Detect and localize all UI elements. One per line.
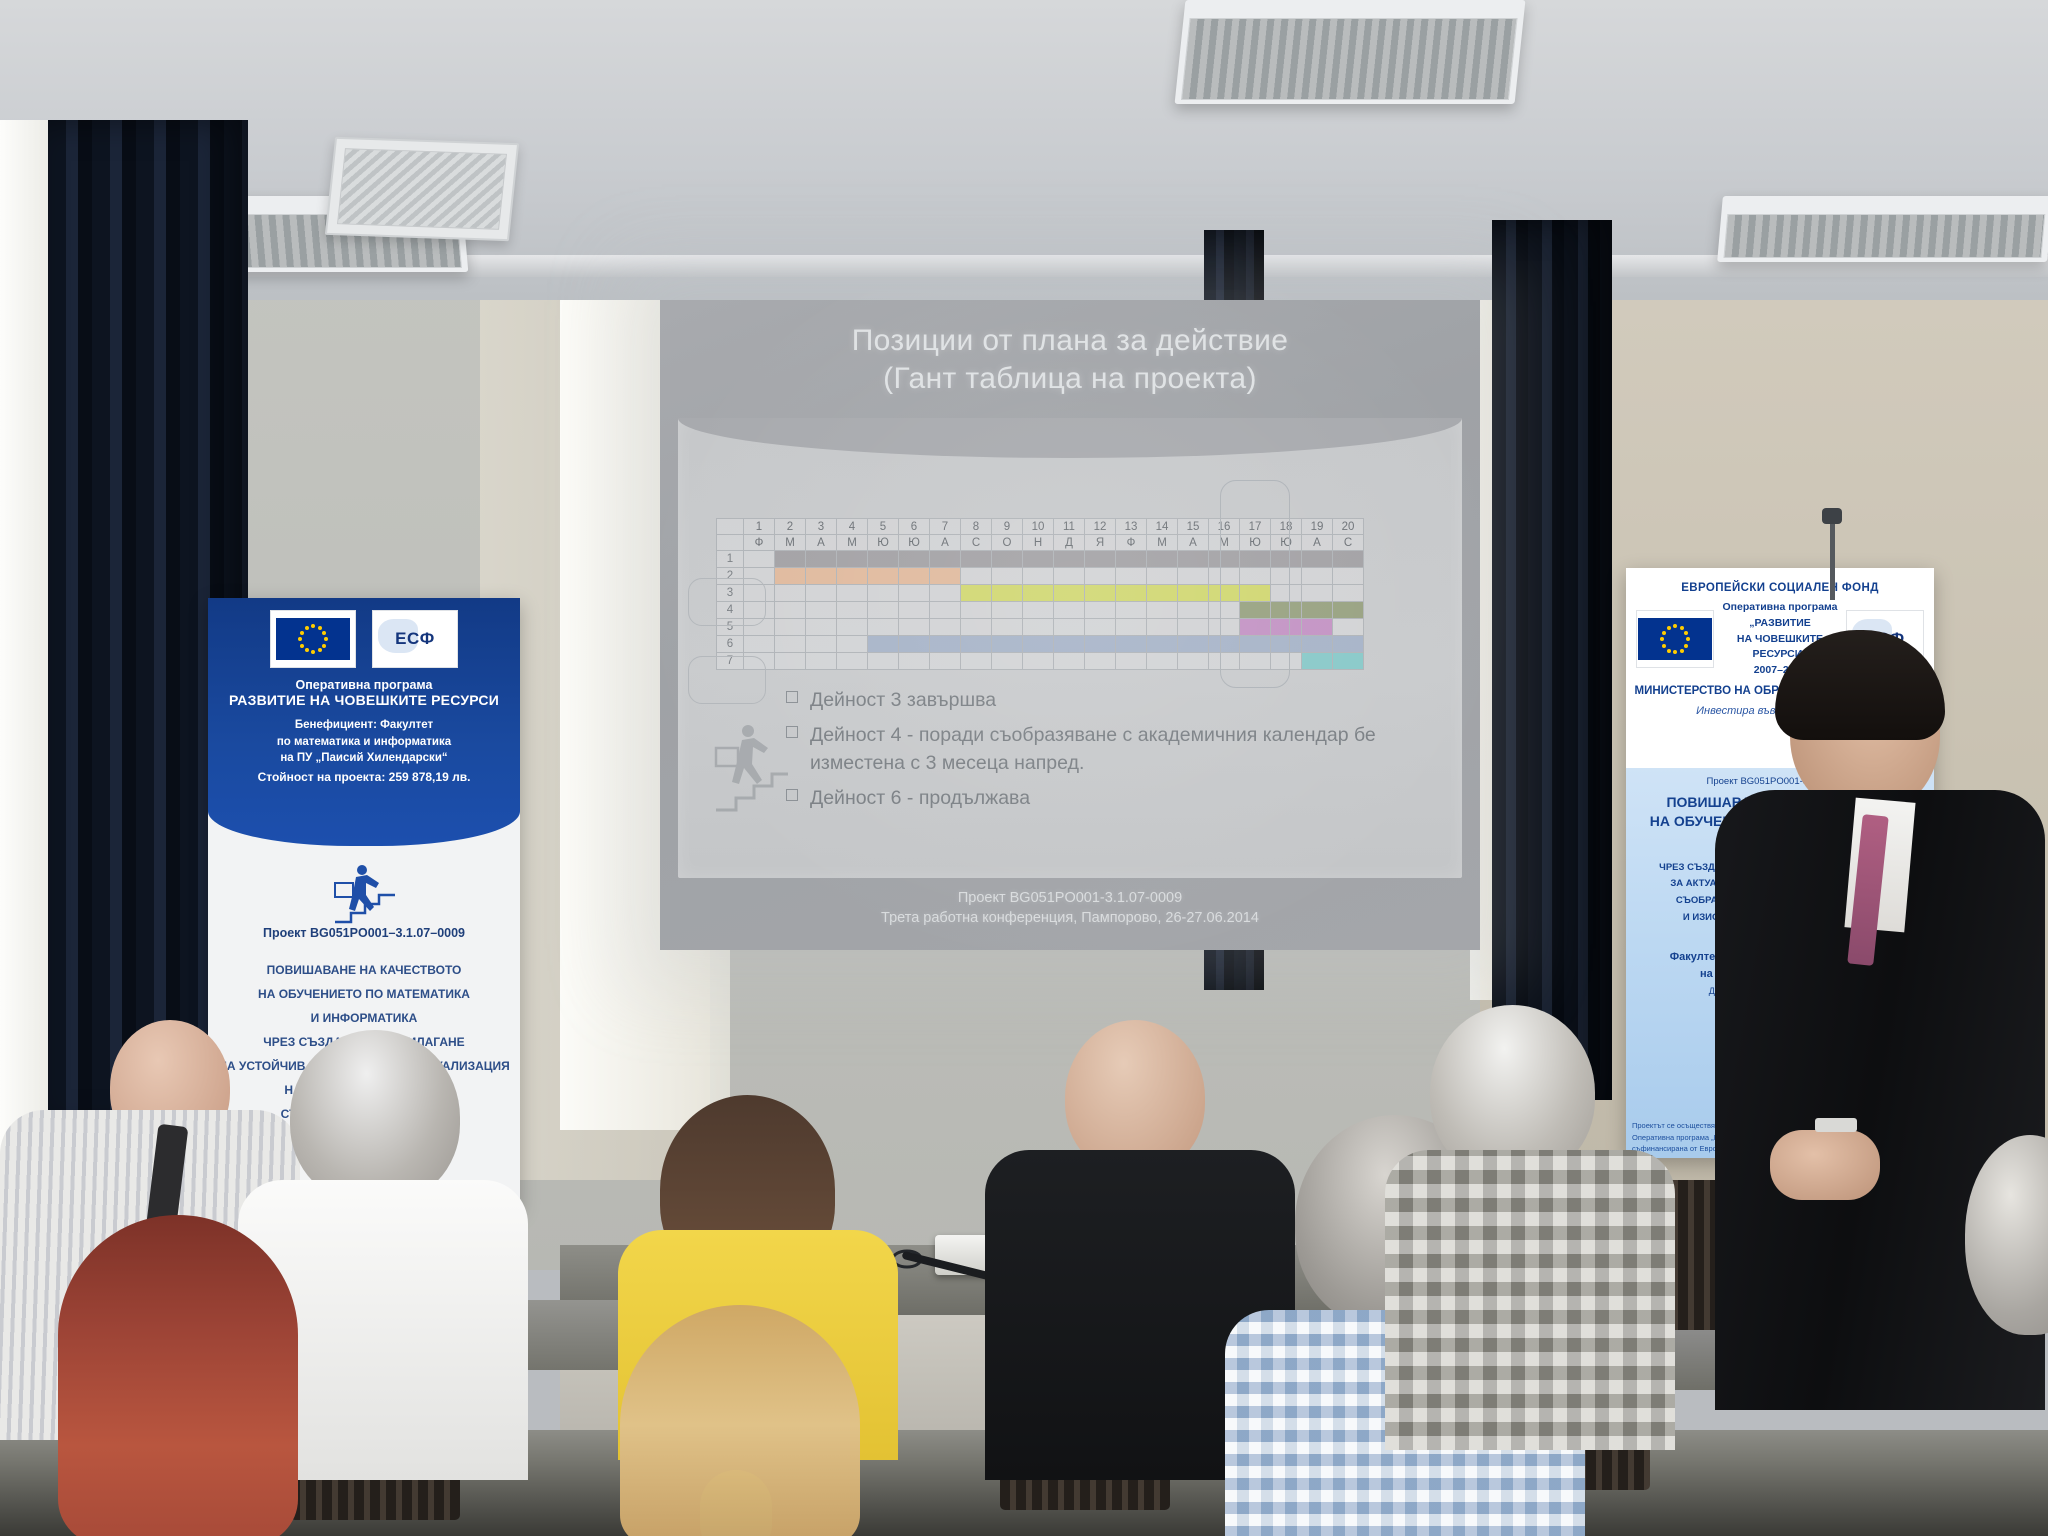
slide-bullet-1: Дейност 3 завършва	[784, 686, 1434, 714]
banner-left-beneficiary-3: на ПУ „Паисий Хилендарски“	[208, 750, 520, 767]
gantt-bar-cell-2	[775, 568, 806, 585]
gantt-col-number-16: 16	[1209, 519, 1240, 535]
slide-title-line1: Позиции от плана за действие	[660, 322, 1480, 360]
gantt-cell	[992, 619, 1023, 636]
gantt-month-12: Я	[1085, 535, 1116, 551]
banner-left-program-line2: РАЗВИТИЕ НА ЧОВЕШКИТЕ РЕСУРСИ	[208, 692, 520, 708]
gantt-bar-cell-1	[930, 551, 961, 568]
gantt-cell	[1054, 568, 1085, 585]
gantt-bar-cell-2	[930, 568, 961, 585]
gantt-row-label-3: 3	[717, 585, 744, 602]
gantt-row: 1	[717, 551, 1364, 568]
gantt-cell	[1147, 602, 1178, 619]
gantt-cell	[775, 602, 806, 619]
slide-title-line2: (Гант таблица на проекта)	[660, 360, 1480, 398]
gantt-bar-cell-3	[1178, 585, 1209, 602]
slide-bullet-list: Дейност 3 завършваДейност 4 - поради съо…	[784, 686, 1434, 819]
gantt-cell	[992, 653, 1023, 670]
gantt-col-number-4: 4	[837, 519, 868, 535]
gantt-cell	[837, 636, 868, 653]
eu-flag-icon	[270, 610, 356, 668]
gantt-cell	[1178, 619, 1209, 636]
gantt-bar-cell-4	[1333, 602, 1364, 619]
gantt-month-9: О	[992, 535, 1023, 551]
slide-title: Позиции от плана за действие (Гант табли…	[660, 322, 1480, 399]
gantt-month-5: Ю	[868, 535, 899, 551]
gantt-bar-cell-4	[1271, 602, 1302, 619]
gantt-bar-cell-3	[961, 585, 992, 602]
gantt-bar-cell-1	[1147, 551, 1178, 568]
slide-footer-project: Проект BG051PO001-3.1.07-0009	[660, 888, 1480, 908]
gantt-cell	[899, 653, 930, 670]
gantt-col-number-13: 13	[1116, 519, 1147, 535]
gantt-month-13: Ф	[1116, 535, 1147, 551]
gantt-row: 3	[717, 585, 1364, 602]
gantt-col-number-8: 8	[961, 519, 992, 535]
gantt-bar-cell-1	[1085, 551, 1116, 568]
gantt-col-number-10: 10	[1023, 519, 1054, 535]
gantt-month-3: А	[806, 535, 837, 551]
slide-bullet-3: Дейност 6 - продължава	[784, 784, 1434, 812]
gantt-bar-cell-5	[1240, 619, 1271, 636]
gantt-row-label-7: 7	[717, 653, 744, 670]
gantt-cell	[899, 619, 930, 636]
gantt-cell	[930, 585, 961, 602]
gantt-col-number-18: 18	[1271, 519, 1302, 535]
gantt-col-number-3: 3	[806, 519, 837, 535]
gantt-bar-cell-6	[1023, 636, 1054, 653]
slide-bullet-2: Дейност 4 - поради съобразяване с академ…	[784, 721, 1434, 777]
gantt-row: 6	[717, 636, 1364, 653]
gantt-row-label-5: 5	[717, 619, 744, 636]
gantt-cell	[1147, 619, 1178, 636]
gantt-cell	[899, 585, 930, 602]
gantt-month-8: С	[961, 535, 992, 551]
gantt-cell	[1271, 585, 1302, 602]
gantt-cell	[837, 585, 868, 602]
gantt-bar-cell-3	[1023, 585, 1054, 602]
gantt-cell	[930, 619, 961, 636]
gantt-month-1: Ф	[744, 535, 775, 551]
banner-left-caps-line-3: И ИНФОРМАТИКА	[208, 1006, 520, 1030]
gantt-month-14: М	[1147, 535, 1178, 551]
gantt-cell	[1116, 568, 1147, 585]
presenter-hands	[1770, 1130, 1880, 1200]
gantt-cell	[868, 653, 899, 670]
gantt-cell	[961, 653, 992, 670]
gantt-bar-cell-6	[1240, 636, 1271, 653]
gantt-cell	[1209, 602, 1240, 619]
gantt-col-number-11: 11	[1054, 519, 1085, 535]
esf-mark-left: ЕСФ	[395, 629, 435, 649]
gantt-bar-cell-1	[1209, 551, 1240, 568]
gantt-month-20: С	[1333, 535, 1364, 551]
gantt-bar-cell-2	[899, 568, 930, 585]
gantt-month-4: М	[837, 535, 868, 551]
gantt-cell	[1085, 653, 1116, 670]
gantt-col-number-19: 19	[1302, 519, 1333, 535]
gantt-col-number-14: 14	[1147, 519, 1178, 535]
gantt-bar-cell-6	[992, 636, 1023, 653]
esf-logo-icon: ЕСФ	[372, 610, 458, 668]
gantt-bar-cell-7	[1333, 653, 1364, 670]
banner-left-header: ЕСФ Оперативна програма РАЗВИТИЕ НА ЧОВЕ…	[208, 598, 520, 846]
gantt-cell	[744, 653, 775, 670]
gantt-month-15: А	[1178, 535, 1209, 551]
gantt-bar-cell-6	[1116, 636, 1147, 653]
gantt-cell	[1147, 568, 1178, 585]
gantt-cell	[837, 619, 868, 636]
gantt-bar-cell-6	[930, 636, 961, 653]
gantt-bar-cell-6	[1302, 636, 1333, 653]
gantt-cell	[1271, 653, 1302, 670]
gantt-cell	[961, 602, 992, 619]
gantt-bar-cell-7	[1302, 653, 1333, 670]
ceiling-light-far-right	[1717, 196, 2048, 262]
gantt-cell	[744, 568, 775, 585]
gantt-row-label-1: 1	[717, 551, 744, 568]
gantt-bar-cell-6	[961, 636, 992, 653]
banner-left-cost: Стойност на проекта: 259 878,19 лв.	[208, 770, 520, 784]
gantt-month-2: М	[775, 535, 806, 551]
gantt-cell	[806, 585, 837, 602]
gantt-corner-2	[717, 535, 744, 551]
gantt-bar-cell-3	[1209, 585, 1240, 602]
gantt-cell	[1240, 568, 1271, 585]
gantt-month-6: Ю	[899, 535, 930, 551]
gantt-cell	[1178, 568, 1209, 585]
stairs-climber-icon	[708, 718, 792, 814]
gantt-cell	[1023, 568, 1054, 585]
gantt-bar-cell-1	[1240, 551, 1271, 568]
gantt-cell	[1209, 619, 1240, 636]
gantt-cell	[868, 585, 899, 602]
gantt-cell	[1054, 619, 1085, 636]
gantt-bar-cell-2	[837, 568, 868, 585]
gantt-col-number-1: 1	[744, 519, 775, 535]
gantt-row: 7	[717, 653, 1364, 670]
gantt-cell	[1333, 568, 1364, 585]
gantt-bar-cell-2	[868, 568, 899, 585]
gantt-bar-cell-1	[837, 551, 868, 568]
gantt-cell	[1240, 653, 1271, 670]
conference-room-photo: Позиции от плана за действие (Гант табли…	[0, 0, 2048, 1536]
banner-left-program-line1: Оперативна програма	[208, 678, 520, 692]
gantt-bar-cell-1	[1178, 551, 1209, 568]
gantt-bar-cell-2	[806, 568, 837, 585]
gantt-bar-cell-1	[775, 551, 806, 568]
gantt-bar-cell-3	[1240, 585, 1271, 602]
gantt-cell	[775, 636, 806, 653]
gantt-bar-cell-6	[1178, 636, 1209, 653]
banner-left-logos: ЕСФ	[208, 598, 520, 668]
gantt-cell	[1209, 568, 1240, 585]
gantt-cell	[775, 585, 806, 602]
gantt-bar-cell-1	[868, 551, 899, 568]
gantt-bar-cell-3	[1147, 585, 1178, 602]
gantt-bar-cell-6	[1147, 636, 1178, 653]
gantt-bar-cell-1	[992, 551, 1023, 568]
gantt-cell	[1209, 653, 1240, 670]
gantt-bar-cell-1	[899, 551, 930, 568]
projection-screen: Позиции от плана за действие (Гант табли…	[660, 300, 1480, 950]
slide-content-card: 1234567891011121314151617181920ФМАМЮЮАСО…	[678, 418, 1462, 878]
gantt-cell	[806, 653, 837, 670]
gantt-bar-cell-1	[1302, 551, 1333, 568]
gantt-cell	[1023, 619, 1054, 636]
gantt-month-17: Ю	[1240, 535, 1271, 551]
gantt-col-number-9: 9	[992, 519, 1023, 535]
slide-footer-conference: Трета работна конференция, Пампорово, 26…	[660, 908, 1480, 928]
slide-card-curve	[678, 418, 1462, 458]
gantt-row: 5	[717, 619, 1364, 636]
ponytail	[700, 1470, 772, 1536]
gantt-col-number-2: 2	[775, 519, 806, 535]
gantt-col-number-6: 6	[899, 519, 930, 535]
gantt-cell	[806, 636, 837, 653]
banner-right-esf-title: ЕВРОПЕЙСКИ СОЦИАЛЕН ФОНД	[1626, 568, 1934, 594]
gantt-month-10: Н	[1023, 535, 1054, 551]
gantt-corner	[717, 519, 744, 535]
gantt-bar-cell-6	[1209, 636, 1240, 653]
gantt-cell	[930, 653, 961, 670]
gantt-col-number-15: 15	[1178, 519, 1209, 535]
gantt-cell	[868, 619, 899, 636]
gantt-month-18: Ю	[1271, 535, 1302, 551]
microphone-stand	[1830, 520, 1835, 600]
gantt-cell	[837, 653, 868, 670]
gantt-bar-cell-4	[1302, 602, 1333, 619]
gantt-cell	[806, 602, 837, 619]
gantt-cell	[1054, 602, 1085, 619]
gantt-row-label-6: 6	[717, 636, 744, 653]
gantt-cell	[1178, 653, 1209, 670]
gantt-col-number-7: 7	[930, 519, 961, 535]
gantt-cell	[1302, 585, 1333, 602]
gantt-col-number-5: 5	[868, 519, 899, 535]
gantt-bar-cell-6	[1333, 636, 1364, 653]
gantt-cell	[775, 619, 806, 636]
banner-right-program-2: „РАЗВИТИЕ	[1714, 616, 1845, 632]
gantt-cell	[1085, 602, 1116, 619]
gantt-bar-cell-1	[1333, 551, 1364, 568]
gantt-cell	[1116, 653, 1147, 670]
gantt-cell	[1271, 568, 1302, 585]
gantt-bar-cell-5	[1271, 619, 1302, 636]
banner-left-caps-line-2: НА ОБУЧЕНИЕТО ПО МАТЕМАТИКА	[208, 982, 520, 1006]
gantt-bar-cell-6	[1085, 636, 1116, 653]
gantt-bar-cell-1	[1116, 551, 1147, 568]
gantt-cell	[1302, 568, 1333, 585]
gantt-bar-cell-1	[1271, 551, 1302, 568]
gantt-cell	[1147, 653, 1178, 670]
gantt-cell	[744, 585, 775, 602]
gantt-bar-cell-3	[992, 585, 1023, 602]
gantt-cell	[930, 602, 961, 619]
gantt-cell	[744, 619, 775, 636]
gantt-bar-cell-6	[1054, 636, 1085, 653]
eu-flag-icon-right	[1636, 610, 1714, 668]
gantt-month-16: М	[1209, 535, 1240, 551]
gantt-col-number-12: 12	[1085, 519, 1116, 535]
gantt-cell	[1116, 602, 1147, 619]
curtain-right	[1492, 220, 1612, 1100]
gantt-cell	[1333, 585, 1364, 602]
gantt-cell	[1085, 619, 1116, 636]
gantt-cell	[868, 602, 899, 619]
gantt-cell	[1178, 602, 1209, 619]
gantt-cell	[1023, 653, 1054, 670]
gantt-bar-cell-6	[868, 636, 899, 653]
gantt-cell	[961, 619, 992, 636]
gantt-cell	[899, 602, 930, 619]
banner-right-program-1: Оперативна програма	[1714, 600, 1845, 616]
gantt-cell	[744, 551, 775, 568]
gantt-col-number-20: 20	[1333, 519, 1364, 535]
gantt-cell	[1054, 653, 1085, 670]
gantt-cell	[744, 602, 775, 619]
gantt-bar-cell-6	[1271, 636, 1302, 653]
gantt-bar-cell-1	[806, 551, 837, 568]
gantt-cell	[1023, 602, 1054, 619]
gantt-bar-cell-6	[899, 636, 930, 653]
slide-footer: Проект BG051PO001-3.1.07-0009 Трета рабо…	[660, 888, 1480, 929]
gantt-month-11: Д	[1054, 535, 1085, 551]
gantt-cell	[1116, 619, 1147, 636]
gantt-cell	[961, 568, 992, 585]
gantt-cell	[992, 568, 1023, 585]
banner-left-beneficiary-1: Бенефициент: Факултет	[208, 717, 520, 734]
banner-left-caps-line-1: ПОВИШАВАНЕ НА КАЧЕСТВОТО	[208, 958, 520, 982]
banner-left-beneficiary-2: по математика и информатика	[208, 734, 520, 751]
gantt-cell	[775, 653, 806, 670]
gantt-col-number-17: 17	[1240, 519, 1271, 535]
gantt-table: 1234567891011121314151617181920ФМАМЮЮАСО…	[716, 518, 1364, 670]
gantt-bar-cell-1	[1023, 551, 1054, 568]
microphone-icon	[1822, 508, 1842, 524]
gantt-bar-cell-5	[1302, 619, 1333, 636]
gantt-row: 4	[717, 602, 1364, 619]
gantt-month-7: А	[930, 535, 961, 551]
banner-left-project: Проект BG051PO001–3.1.07–0009	[208, 926, 520, 940]
gantt-cell	[992, 602, 1023, 619]
gantt-bar-cell-3	[1116, 585, 1147, 602]
stairs-climber-icon-blue	[329, 862, 399, 924]
gantt-bar-cell-1	[1054, 551, 1085, 568]
gantt-cell	[1085, 568, 1116, 585]
gantt-bar-cell-3	[1085, 585, 1116, 602]
gantt-cell	[1333, 619, 1364, 636]
ceiling-vent	[325, 137, 519, 241]
gantt-row-label-2: 2	[717, 568, 744, 585]
gantt-month-19: А	[1302, 535, 1333, 551]
presenter-cuff	[1815, 1118, 1857, 1132]
gantt-bar-cell-4	[1240, 602, 1271, 619]
gantt-row: 2	[717, 568, 1364, 585]
gantt-cell	[806, 619, 837, 636]
gantt-row-label-4: 4	[717, 602, 744, 619]
gantt-bar-cell-3	[1054, 585, 1085, 602]
gantt-bar-cell-1	[961, 551, 992, 568]
ceiling-light-right	[1175, 0, 1526, 104]
gantt-cell	[837, 602, 868, 619]
gantt-cell	[744, 636, 775, 653]
